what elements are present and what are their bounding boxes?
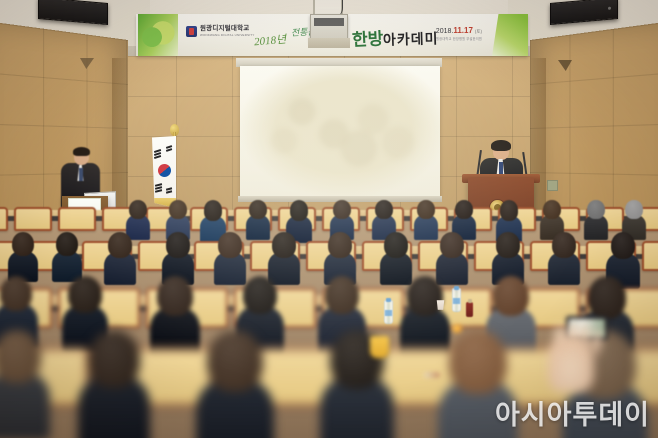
audience-head — [68, 276, 101, 313]
audience-head — [157, 276, 193, 316]
audience-member — [492, 232, 524, 271]
audience-head — [333, 200, 350, 219]
snack-on-desk — [424, 372, 440, 378]
leaf-graphic-right-icon — [492, 14, 528, 56]
audience-member — [286, 200, 312, 230]
audience-head — [12, 232, 34, 256]
audience-head — [0, 276, 32, 311]
audience-head — [440, 232, 463, 258]
lecture-hall-photograph: 원광디지털대학교 WONKWANG DIGITAL UNIVERSITY 201… — [0, 0, 658, 438]
audience-member — [162, 232, 194, 271]
red-drink-bottle — [466, 302, 473, 317]
audience-head — [325, 276, 360, 314]
audience-head — [493, 276, 529, 316]
banner-date-monthday: 11.17 — [453, 26, 473, 35]
audience-member — [268, 232, 300, 271]
audience-member — [8, 232, 38, 271]
audience-member — [78, 330, 150, 411]
audience-head — [417, 200, 434, 219]
university-logo: 원광디지털대학교 WONKWANG DIGITAL UNIVERSITY — [186, 26, 255, 37]
audience-head — [588, 276, 627, 319]
audience-head — [129, 200, 146, 219]
audience-member — [414, 200, 438, 230]
audience-member — [330, 200, 354, 230]
korean-flag-taegukgi-icon — [152, 136, 176, 208]
audience-head — [204, 200, 223, 221]
audience-member — [200, 200, 226, 230]
audience-head — [449, 330, 507, 394]
water-bottle — [384, 300, 393, 324]
wall-outlet-plate — [547, 180, 558, 191]
projector-shade — [308, 38, 350, 48]
audience-member — [486, 276, 536, 330]
taeguk-circle-icon — [156, 162, 173, 179]
audience-member — [438, 330, 518, 411]
audience-member — [246, 200, 270, 230]
audience-member — [324, 232, 356, 271]
banner-title-sub: 아카데미 — [383, 28, 439, 49]
banner-calligraphy-year: 2018년 — [253, 31, 286, 50]
audience-head — [0, 330, 41, 383]
audience-member — [62, 276, 108, 330]
banner-sponsor-text: 원광대학교 한방병원 부설한의원 — [436, 38, 482, 41]
banner-date-block: 2018.11.17 (토) 원광대학교 한방병원 부설한의원 — [436, 27, 482, 41]
projection-screen — [240, 66, 440, 198]
audience-head — [169, 200, 186, 219]
audience-member — [0, 330, 50, 411]
audience-member — [52, 232, 82, 271]
audience-member — [540, 200, 564, 230]
audience-head — [218, 232, 241, 258]
audience-member — [236, 276, 284, 330]
audience-head — [88, 330, 140, 388]
university-name-korean: 원광디지털대학교 — [200, 26, 255, 33]
auditorium-seat — [0, 207, 8, 231]
audience-head — [249, 200, 266, 219]
banner-title-main: 한방 — [351, 24, 384, 51]
audience-head — [552, 232, 575, 258]
audience-head — [207, 330, 263, 392]
audience-member — [0, 276, 38, 330]
tangerine-fruit — [452, 324, 462, 333]
audience-member — [104, 232, 136, 271]
audience-member — [496, 200, 522, 230]
projected-slide-content — [252, 80, 430, 178]
audience-head — [611, 232, 635, 259]
water-bottle — [452, 288, 461, 312]
auditorium-seat — [14, 207, 52, 231]
audience-member — [380, 232, 412, 271]
audience-head — [455, 200, 472, 219]
audience-member — [318, 276, 366, 330]
banner-date-dayofweek: (토) — [475, 29, 482, 34]
audience-head — [496, 232, 519, 258]
yellow-tumbler — [370, 336, 389, 358]
audience-member — [126, 200, 150, 230]
audience-head — [290, 200, 309, 221]
audience-head — [625, 200, 642, 219]
finger — [568, 322, 578, 346]
audience-member — [606, 232, 640, 271]
auditorium-seat — [58, 207, 96, 231]
audience-head — [243, 276, 278, 314]
audience-member — [196, 330, 274, 411]
leaf-graphic-left-icon — [138, 14, 178, 56]
audience-head — [587, 200, 604, 219]
audience-member — [436, 232, 468, 271]
audience-head — [328, 232, 351, 258]
audience-head — [272, 232, 295, 258]
audience-head — [543, 200, 560, 219]
audience-head — [108, 232, 131, 258]
university-name-english: WONKWANG DIGITAL UNIVERSITY — [200, 34, 255, 37]
audience-member — [150, 276, 200, 330]
audience-member — [622, 200, 646, 230]
audience-head — [500, 200, 519, 221]
auditorium-seat — [642, 241, 658, 271]
audience-head — [375, 200, 392, 219]
banner-date-year: 2018. — [436, 28, 454, 35]
audience-head — [407, 276, 443, 316]
audience-head — [166, 232, 189, 258]
audience-member — [214, 232, 246, 271]
audience-member — [548, 232, 580, 271]
audience-member — [372, 200, 396, 230]
audience-head — [56, 232, 78, 256]
audience-member — [166, 200, 190, 230]
university-emblem-icon — [186, 26, 197, 37]
audience-member — [584, 200, 608, 230]
audience-head — [384, 232, 407, 258]
audience-member — [452, 200, 476, 230]
